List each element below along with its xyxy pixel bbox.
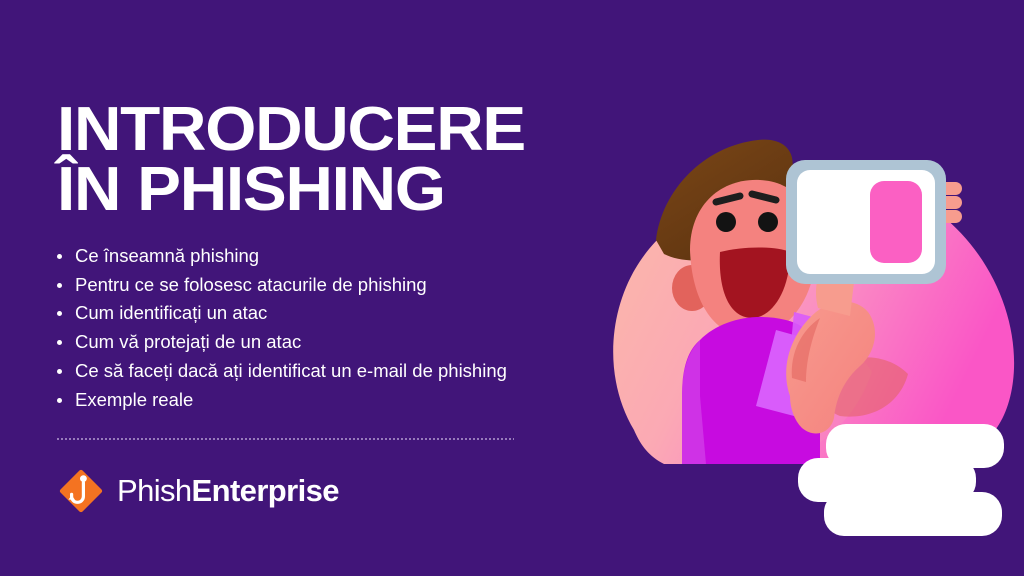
list-item: Ce să faceți dacă ați identificat un e-m… [56,357,626,386]
list-item: Pentru ce se folosesc atacurile de phish… [56,271,626,300]
list-item-label: Ce să faceți dacă ați identificat un e-m… [75,360,507,381]
list-item-label: Pentru ce se folosesc atacurile de phish… [75,274,427,295]
list-item: Exemple reale [56,386,626,415]
list-item-label: Exemple reale [75,389,193,410]
person-holding-tablet-illustration [604,0,1024,576]
list-item-label: Ce înseamnă phishing [75,245,259,266]
brand-name-bold: Enterprise [192,473,339,508]
page-title: INTRODUCERE ÎN PHISHING [57,100,661,220]
presentation-slide: INTRODUCERE ÎN PHISHING Ce înseamnă phis… [0,0,1024,576]
list-item-label: Cum identificați un atac [75,302,267,323]
list-item: Ce înseamnă phishing [56,242,626,271]
brand-name-light: Phish [117,473,192,508]
dotted-divider [56,438,514,440]
slide-content-column: INTRODUCERE ÎN PHISHING Ce înseamnă phis… [0,0,640,576]
list-item-label: Cum vă protejați de un atac [75,331,301,352]
fishhook-diamond-icon [56,466,106,516]
agenda-list: Ce înseamnă phishing Pentru ce se folose… [56,242,626,414]
brand-logo: PhishEnterprise [56,466,339,516]
title-line-1: INTRODUCERE [57,100,661,160]
title-line-2: ÎN PHISHING [57,160,661,220]
list-item: Cum identificați un atac [56,299,626,328]
list-item: Cum vă protejați de un atac [56,328,626,357]
brand-logo-text: PhishEnterprise [117,473,339,509]
